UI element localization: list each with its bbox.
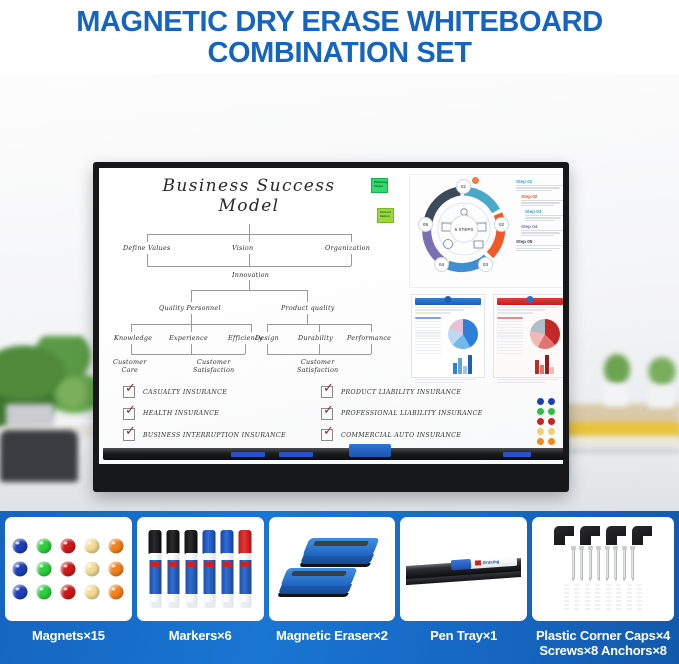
report-text-line xyxy=(497,307,558,308)
office-scene-photo: Business Success Model Define Values Vis… xyxy=(0,74,679,511)
marker-cap xyxy=(149,530,162,554)
check-icon: ✓ xyxy=(323,425,337,439)
pentray-label: Pen Tray×1 xyxy=(430,628,497,643)
board-magnet[interactable] xyxy=(548,438,555,445)
checkbox[interactable]: ✓ xyxy=(321,386,333,398)
table-header xyxy=(415,317,441,320)
markers-label: Markers×6 xyxy=(169,628,232,643)
magnet xyxy=(85,585,100,600)
marker-black xyxy=(167,530,180,608)
checklist-column-right: ✓ PRODUCT LIABILITY INSURANCE ✓ PROFESSI… xyxy=(321,386,483,451)
table-row xyxy=(497,335,523,336)
table-row xyxy=(415,335,441,336)
table-row xyxy=(415,332,441,333)
magnet xyxy=(37,585,52,600)
magnet xyxy=(109,585,124,600)
anchor xyxy=(595,584,600,610)
checklist-item[interactable]: ✓ BUSINESS INTERRUPTION INSURANCE xyxy=(123,429,286,441)
screw xyxy=(614,549,617,579)
connector xyxy=(191,324,192,332)
connector xyxy=(351,234,352,242)
step-item-04: Step 04 xyxy=(521,224,563,236)
corner-cap xyxy=(554,526,574,545)
markers-image-box xyxy=(137,517,264,621)
report-text-line xyxy=(497,312,533,313)
pentray-image: Erasing xyxy=(406,523,521,615)
title-line-2: COMBINATION SET xyxy=(207,38,471,69)
board-magnet[interactable] xyxy=(537,418,544,425)
plant-left-small-icon xyxy=(52,374,94,414)
marker-tip xyxy=(187,602,195,608)
magnets-image-box xyxy=(5,517,132,621)
corner-cap xyxy=(632,526,652,545)
checklist-label: COMMERCIAL AUTO INSURANCE xyxy=(341,432,461,439)
report-text-line xyxy=(415,379,476,380)
steps-description-list: Step 01 Step 02 Step 03 Step 04 xyxy=(516,179,563,254)
connector xyxy=(147,234,148,242)
connector xyxy=(191,290,192,302)
report-header-bar xyxy=(497,298,563,305)
magnet xyxy=(13,539,28,554)
report-text-line xyxy=(415,312,451,313)
erasers-group xyxy=(284,534,380,604)
table-row xyxy=(497,353,523,354)
diagram-title: Business Success Model xyxy=(99,176,399,216)
report-knob-icon xyxy=(445,296,452,303)
bar-chart xyxy=(444,354,481,374)
board-magnet[interactable] xyxy=(537,438,544,445)
marker-tip xyxy=(151,602,159,608)
checklist-label: CASUALTY INSURANCE xyxy=(143,389,227,396)
bar xyxy=(458,358,461,374)
screw xyxy=(589,549,592,579)
screw xyxy=(572,549,575,579)
marker-black xyxy=(149,530,162,608)
checklist-item[interactable]: ✓ COMMERCIAL AUTO INSURANCE xyxy=(321,429,483,441)
checklist-item[interactable]: ✓ HEALTH INSURANCE xyxy=(123,408,286,420)
connector xyxy=(191,290,307,291)
table-row xyxy=(415,347,441,348)
diagram-title-line-1: Business Success xyxy=(162,176,335,196)
screw xyxy=(606,549,609,579)
table-row xyxy=(497,350,523,351)
bar xyxy=(463,366,466,374)
magnetic-eraser xyxy=(306,538,376,566)
check-icon: ✓ xyxy=(125,382,139,396)
connector xyxy=(131,354,245,355)
pen-cap xyxy=(450,559,471,570)
eraser-felt xyxy=(291,571,347,576)
report-sheet-blue xyxy=(411,294,485,378)
table-row xyxy=(415,353,441,354)
corner-cap xyxy=(606,526,626,545)
table-row xyxy=(497,347,523,348)
marker-logo xyxy=(240,562,249,567)
table-row xyxy=(415,341,441,342)
five-steps-circle-chart: 5 STEPS 01 02 03 04 05 xyxy=(416,181,512,277)
checklist-label: PRODUCT LIABILITY INSURANCE xyxy=(341,389,461,396)
title-line-1: MAGNETIC DRY ERASE WHITEBOARD xyxy=(76,7,603,38)
marker-logo xyxy=(168,562,177,567)
check-icon: ✓ xyxy=(323,382,337,396)
magnet xyxy=(61,585,76,600)
pie-chart xyxy=(448,319,478,349)
accessory-panel-eraser: Magnetic Eraser×2 xyxy=(269,517,396,643)
node-customer-satisfaction-left: CustomerSatisfaction xyxy=(193,358,234,374)
markers-row xyxy=(149,530,252,608)
step-badge-02: 02 xyxy=(494,217,509,232)
step-badge-01: 01 xyxy=(456,179,471,194)
magnet xyxy=(13,585,28,600)
magnets-grid xyxy=(13,539,124,600)
hardware-image-box xyxy=(532,517,674,621)
eraser-image-box xyxy=(269,517,396,621)
eraser-image xyxy=(275,523,390,615)
report-text-line xyxy=(415,309,464,310)
connector xyxy=(251,324,252,332)
table-row xyxy=(497,324,523,325)
connector xyxy=(249,280,250,290)
report-text-line xyxy=(415,307,476,308)
anchor xyxy=(564,584,569,610)
magnet xyxy=(61,562,76,577)
table-header xyxy=(497,317,523,320)
marker-tip xyxy=(223,602,231,608)
magnet xyxy=(61,539,76,554)
step-title-04: Step 04 xyxy=(521,224,563,229)
connector xyxy=(249,254,250,266)
corner-caps-row xyxy=(549,526,657,545)
bar xyxy=(453,363,456,374)
tray-marker[interactable] xyxy=(279,452,313,457)
magnet xyxy=(37,539,52,554)
step-item-05: Step 05 xyxy=(516,239,563,251)
screw xyxy=(597,549,600,579)
checkbox[interactable]: ✓ xyxy=(321,429,333,441)
product-title-banner: MAGNETIC DRY ERASE WHITEBOARD COMBINATIO… xyxy=(0,0,679,74)
anchor xyxy=(637,584,642,610)
magnet xyxy=(37,562,52,577)
pen-logo xyxy=(474,560,480,565)
checklist-label: HEALTH INSURANCE xyxy=(143,410,219,417)
connector xyxy=(307,290,308,302)
screw xyxy=(631,549,634,579)
report-charts xyxy=(526,317,563,374)
marker-cap xyxy=(167,530,180,554)
board-magnet[interactable] xyxy=(548,428,555,435)
anchors-row xyxy=(549,584,657,610)
marker-black xyxy=(185,530,198,608)
step-title-02: Step 02 xyxy=(521,194,563,199)
screws-row xyxy=(549,549,657,579)
board-magnet-grid xyxy=(537,398,555,445)
magnets-label: Magnets×15 xyxy=(32,628,105,643)
node-innovation: Innovation xyxy=(232,271,269,279)
node-customer-care: CustomerCare xyxy=(113,358,147,374)
chair-left-1 xyxy=(0,430,78,482)
marker-tip xyxy=(205,602,213,608)
marker-cap xyxy=(221,530,234,554)
accessory-strip: Magnets×15 xyxy=(0,511,679,664)
anchor xyxy=(606,584,611,610)
screw xyxy=(623,549,626,579)
marker-cap xyxy=(239,530,252,554)
rail-right xyxy=(560,448,679,454)
magnet xyxy=(109,562,124,577)
hardware-image xyxy=(538,523,668,615)
marker-logo xyxy=(204,562,213,567)
magnet xyxy=(13,562,28,577)
node-durability: Durability xyxy=(298,334,333,342)
diagram-title-line-2: Model xyxy=(218,196,279,216)
connector xyxy=(131,324,132,332)
magnet xyxy=(109,539,124,554)
accessory-panel-markers: Markers×6 xyxy=(137,517,264,643)
step-item-01: Step 01 xyxy=(516,179,563,191)
marker-blue xyxy=(203,530,216,608)
report-charts xyxy=(444,317,481,374)
node-experience: Experience xyxy=(169,334,208,342)
checklist-item[interactable]: ✓ CASUALTY INSURANCE xyxy=(123,386,286,398)
marker-tip xyxy=(169,602,177,608)
step-body-04 xyxy=(521,230,563,236)
plant-pot-right-3 xyxy=(648,386,674,408)
report-text-line xyxy=(497,382,546,383)
magnets-image xyxy=(11,523,126,615)
report-sheet-red xyxy=(493,294,563,378)
node-vision: Vision xyxy=(232,244,253,252)
report-text-line xyxy=(497,309,546,310)
marker-cap xyxy=(203,530,216,554)
hardware-group xyxy=(549,526,657,612)
table-row xyxy=(497,341,523,342)
checklist-item[interactable]: ✓ PROFESSIONAL LIABILITY INSURANCE xyxy=(321,408,483,420)
pie-chart xyxy=(530,319,560,349)
connector xyxy=(147,266,351,267)
board-magnet[interactable] xyxy=(548,408,555,415)
connector xyxy=(319,344,320,354)
table-row xyxy=(415,344,441,345)
bar xyxy=(540,365,543,374)
chart-center-label: 5 STEPS xyxy=(450,215,478,243)
node-organization: Organization xyxy=(325,244,370,252)
bar xyxy=(535,360,538,374)
connector xyxy=(319,324,320,332)
table-row xyxy=(415,321,441,322)
magnet xyxy=(85,562,100,577)
accessory-panel-pentray: Erasing Pen Tray×1 xyxy=(400,517,527,643)
step-item-03: Step 03 xyxy=(525,209,563,221)
board-magnet[interactable] xyxy=(548,418,555,425)
bar xyxy=(545,355,548,374)
step-item-02: Step 02 xyxy=(521,194,563,206)
table-row xyxy=(497,338,523,339)
node-customer-satisfaction-right: CustomerSatisfaction xyxy=(297,358,338,374)
accessory-panel-hardware: Plastic Corner Caps×4 Screws×8 Anchors×8 xyxy=(532,517,674,658)
magnetic-eraser xyxy=(284,568,354,596)
step-body-01 xyxy=(516,185,563,191)
tray-eraser[interactable] xyxy=(349,444,391,457)
bar xyxy=(468,355,471,374)
table-row xyxy=(415,327,441,328)
report-text-line xyxy=(497,379,558,380)
step-body-03 xyxy=(525,215,563,221)
marker-logo xyxy=(150,562,159,567)
node-performance: Performance xyxy=(347,334,391,342)
screw xyxy=(580,549,583,579)
connector xyxy=(371,344,372,354)
step-title-05: Step 05 xyxy=(516,239,563,244)
connector xyxy=(191,344,192,354)
checklist-label: PROFESSIONAL LIABILITY INSURANCE xyxy=(341,410,483,417)
connector xyxy=(267,354,371,355)
report-data-table xyxy=(415,317,441,374)
pen-tray-group: Erasing xyxy=(406,544,521,598)
hardware-label: Plastic Corner Caps×4 Screws×8 Anchors×8 xyxy=(536,628,670,658)
node-product-quality: Product quality xyxy=(281,304,335,312)
report-data-table xyxy=(497,317,523,374)
connector xyxy=(249,234,250,242)
step-body-05 xyxy=(516,245,563,251)
report-header-bar xyxy=(415,298,481,305)
table-row xyxy=(415,324,441,325)
anchor xyxy=(585,584,590,610)
corner-cap xyxy=(580,526,600,545)
whiteboard-surface: Business Success Model Define Values Vis… xyxy=(99,168,563,464)
tray-marker[interactable] xyxy=(503,452,531,457)
report-content xyxy=(415,317,481,374)
board-magnet[interactable] xyxy=(537,408,544,415)
table-row xyxy=(497,330,523,331)
table-row xyxy=(415,338,441,339)
marker-tip xyxy=(241,602,249,608)
node-design: Design xyxy=(255,334,279,342)
connector xyxy=(131,344,132,354)
connector xyxy=(147,254,148,266)
table-row xyxy=(497,327,523,328)
board-magnet[interactable] xyxy=(537,398,544,405)
checkbox[interactable]: ✓ xyxy=(123,408,135,420)
check-icon: ✓ xyxy=(125,425,139,439)
table-row xyxy=(497,332,523,333)
table-row xyxy=(415,330,441,331)
node-knowledge: Knowledge xyxy=(114,334,152,342)
report-content xyxy=(497,317,563,374)
whiteboard: Business Success Model Define Values Vis… xyxy=(93,162,569,492)
connector xyxy=(267,344,268,354)
connector xyxy=(245,344,246,354)
checkbox[interactable]: ✓ xyxy=(123,386,135,398)
board-magnet[interactable] xyxy=(537,428,544,435)
connector xyxy=(249,224,250,234)
plant-pot-right-2 xyxy=(604,384,628,406)
tray-marker[interactable] xyxy=(231,452,265,457)
board-magnet[interactable] xyxy=(548,398,555,405)
connector xyxy=(191,314,192,324)
checklist-item[interactable]: ✓ PRODUCT LIABILITY INSURANCE xyxy=(321,386,483,398)
step-title-01: Step 01 xyxy=(516,179,563,184)
connector xyxy=(267,324,268,332)
connector xyxy=(371,324,372,332)
anchor xyxy=(627,584,632,610)
node-define-values: Define Values xyxy=(123,244,171,252)
marker-logo xyxy=(186,562,195,567)
eraser-label: Magnetic Eraser×2 xyxy=(276,628,388,643)
node-quality-personnel: Quality Personnel xyxy=(159,304,221,312)
pentray-image-box: Erasing xyxy=(400,517,527,621)
bar-chart xyxy=(526,354,563,374)
checkbox[interactable]: ✓ xyxy=(123,429,135,441)
check-icon: ✓ xyxy=(125,404,139,418)
table-row xyxy=(497,344,523,345)
step-badge-05: 05 xyxy=(418,217,433,232)
report-knob-icon xyxy=(527,296,534,303)
check-icon: ✓ xyxy=(323,404,337,418)
sticky-note-2: Current Option xyxy=(377,208,394,223)
table-row xyxy=(497,321,523,322)
infographic-card: 5 STEPS 01 02 03 04 05 Step 01 Step 02 xyxy=(409,174,563,288)
step-title-03: Step 03 xyxy=(525,209,563,214)
decorative-dot-icon xyxy=(472,177,479,184)
pen-brand-text: Erasing xyxy=(482,558,499,564)
step-badge-04: 04 xyxy=(434,257,449,272)
marker-blue xyxy=(221,530,234,608)
sticky-note-1: Planning Target xyxy=(371,178,388,193)
checklist-column-left: ✓ CASUALTY INSURANCE ✓ HEALTH INSURANCE … xyxy=(123,386,286,451)
eraser-felt xyxy=(313,541,369,546)
marker-red xyxy=(239,530,252,608)
marker-logo xyxy=(222,562,231,567)
board-pen-tray xyxy=(103,448,563,460)
bar xyxy=(550,367,553,374)
report-text-line xyxy=(415,382,464,383)
anchor xyxy=(574,584,579,610)
magnet xyxy=(85,539,100,554)
checklist-label: BUSINESS INTERRUPTION INSURANCE xyxy=(143,432,286,439)
hardware-label-line-1: Plastic Corner Caps×4 xyxy=(536,628,670,643)
markers-image xyxy=(143,523,258,615)
connector xyxy=(307,314,308,324)
hardware-label-line-2: Screws×8 Anchors×8 xyxy=(536,643,670,658)
connector xyxy=(351,254,352,266)
anchor xyxy=(616,584,621,610)
step-badge-03: 03 xyxy=(478,257,493,272)
step-body-02 xyxy=(521,200,563,206)
marker-cap xyxy=(185,530,198,554)
accessory-panel-magnets: Magnets×15 xyxy=(5,517,132,643)
checkbox[interactable]: ✓ xyxy=(321,408,333,420)
table-row xyxy=(415,350,441,351)
